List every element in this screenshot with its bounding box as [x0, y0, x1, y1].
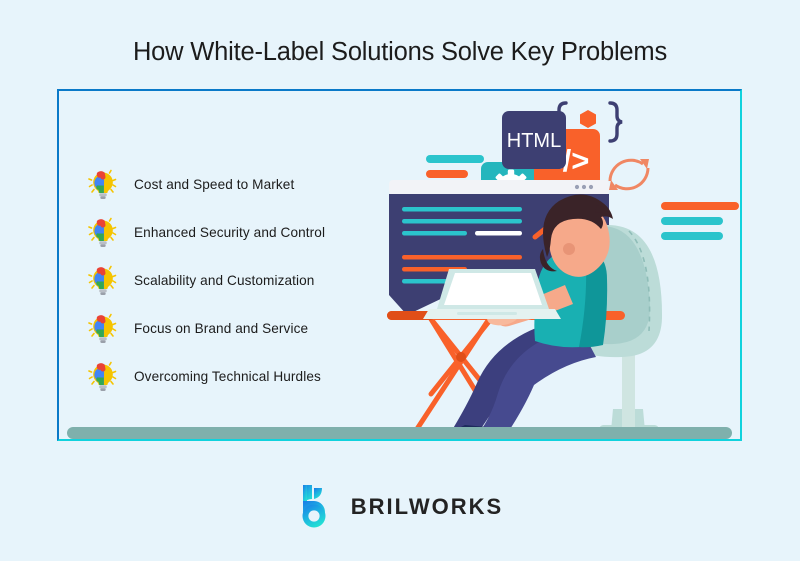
list-item-label: Scalability and Customization	[134, 273, 314, 288]
benefits-list: Cost and Speed to Market	[88, 160, 388, 400]
list-item: Overcoming Technical Hurdles	[88, 352, 388, 400]
puzzle-lightbulb-icon	[88, 312, 118, 344]
list-item-label: Focus on Brand and Service	[134, 321, 308, 336]
list-item-label: Enhanced Security and Control	[134, 225, 325, 240]
list-item: Focus on Brand and Service	[88, 304, 388, 352]
puzzle-lightbulb-icon	[88, 264, 118, 296]
puzzle-lightbulb-icon	[88, 216, 118, 248]
brand-logo: BRILWORKS	[0, 483, 800, 531]
list-item: Scalability and Customization	[88, 256, 388, 304]
puzzle-lightbulb-icon	[88, 168, 118, 200]
list-item: Cost and Speed to Market	[88, 160, 388, 208]
list-item-label: Overcoming Technical Hurdles	[134, 369, 321, 384]
brand-logo-text: BRILWORKS	[351, 494, 503, 520]
page-title: How White-Label Solutions Solve Key Prob…	[0, 38, 800, 67]
puzzle-lightbulb-icon	[88, 360, 118, 392]
brilworks-b-mark	[297, 483, 339, 531]
list-item-label: Cost and Speed to Market	[134, 177, 294, 192]
infographic-page: How White-Label Solutions Solve Key Prob…	[0, 0, 800, 561]
list-item: Enhanced Security and Control	[88, 208, 388, 256]
